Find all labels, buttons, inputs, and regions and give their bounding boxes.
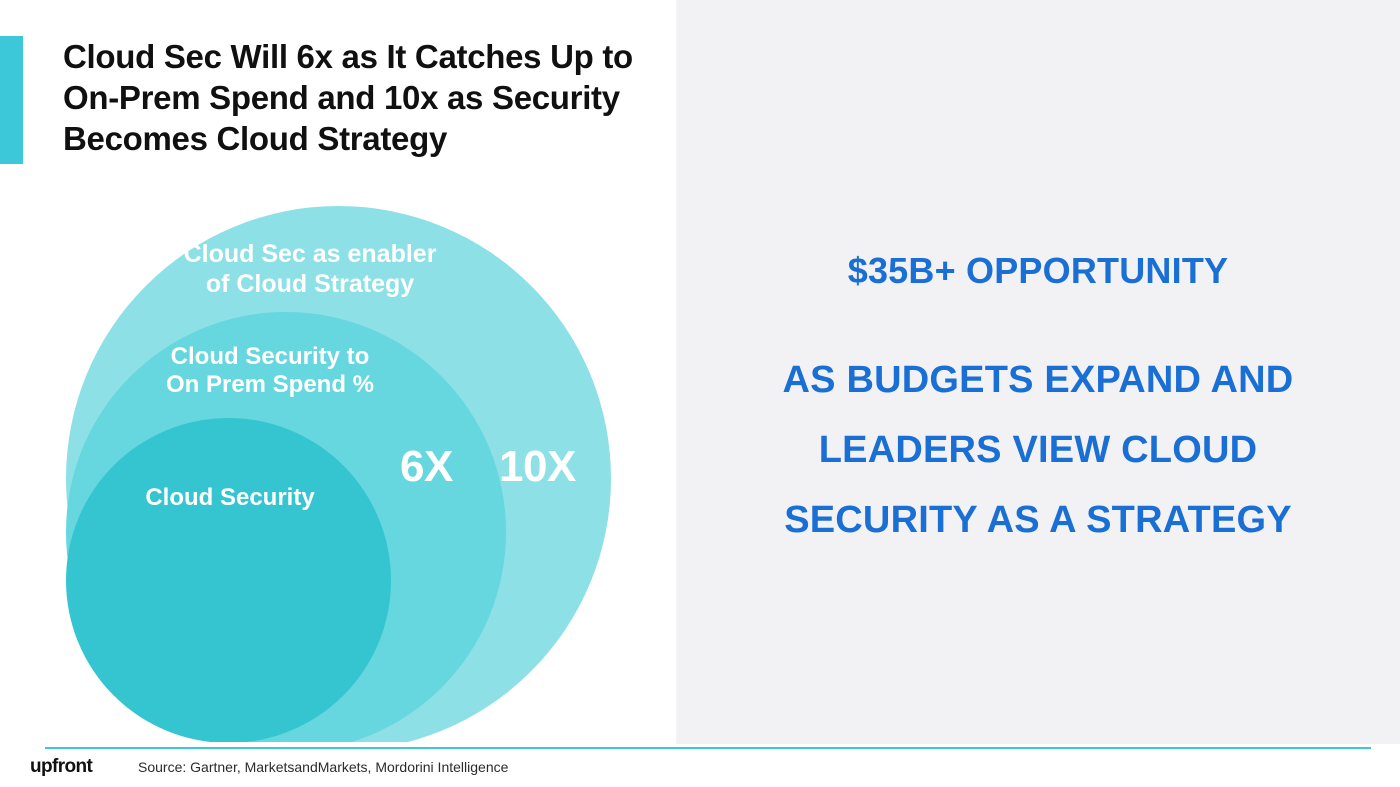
multiplier-6x: 6X <box>400 442 453 492</box>
upfront-logo: upfront <box>30 756 92 778</box>
circle-middle-label: Cloud Security to On Prem Spend % <box>100 343 440 400</box>
opportunity-subhead-line3: SECURITY AS A STRATEGY <box>700 485 1376 555</box>
opportunity-headline: $35B+ OPPORTUNITY <box>700 250 1376 292</box>
circle-inner-label: Cloud Security <box>65 484 395 512</box>
opportunity-subhead-line2: LEADERS VIEW CLOUD <box>700 415 1376 485</box>
nested-circles-diagram: Cloud Sec as enabler of Cloud Strategy C… <box>65 180 625 742</box>
footer-divider <box>45 747 1371 749</box>
slide-root: Cloud Sec Will 6x as It Catches Up to On… <box>0 0 1400 787</box>
opportunity-subhead-line1: AS BUDGETS EXPAND AND <box>700 345 1376 415</box>
circle-outer-label-line2: of Cloud Strategy <box>206 270 414 298</box>
circle-inner-label-line1: Cloud Security <box>145 484 314 511</box>
circle-middle-label-line2: On Prem Spend % <box>166 371 374 398</box>
circle-outer-label: Cloud Sec as enabler of Cloud Strategy <box>135 240 485 299</box>
opportunity-subhead: AS BUDGETS EXPAND AND LEADERS VIEW CLOUD… <box>700 345 1376 555</box>
source-citation: Source: Gartner, MarketsandMarkets, Mord… <box>138 759 508 775</box>
title-accent-bar <box>0 36 23 164</box>
circle-outer-label-line1: Cloud Sec as enabler <box>184 240 437 268</box>
circle-middle-label-line1: Cloud Security to <box>171 343 370 370</box>
multiplier-10x: 10X <box>499 442 576 492</box>
circle-inner <box>66 418 391 742</box>
page-title: Cloud Sec Will 6x as It Catches Up to On… <box>63 36 663 159</box>
